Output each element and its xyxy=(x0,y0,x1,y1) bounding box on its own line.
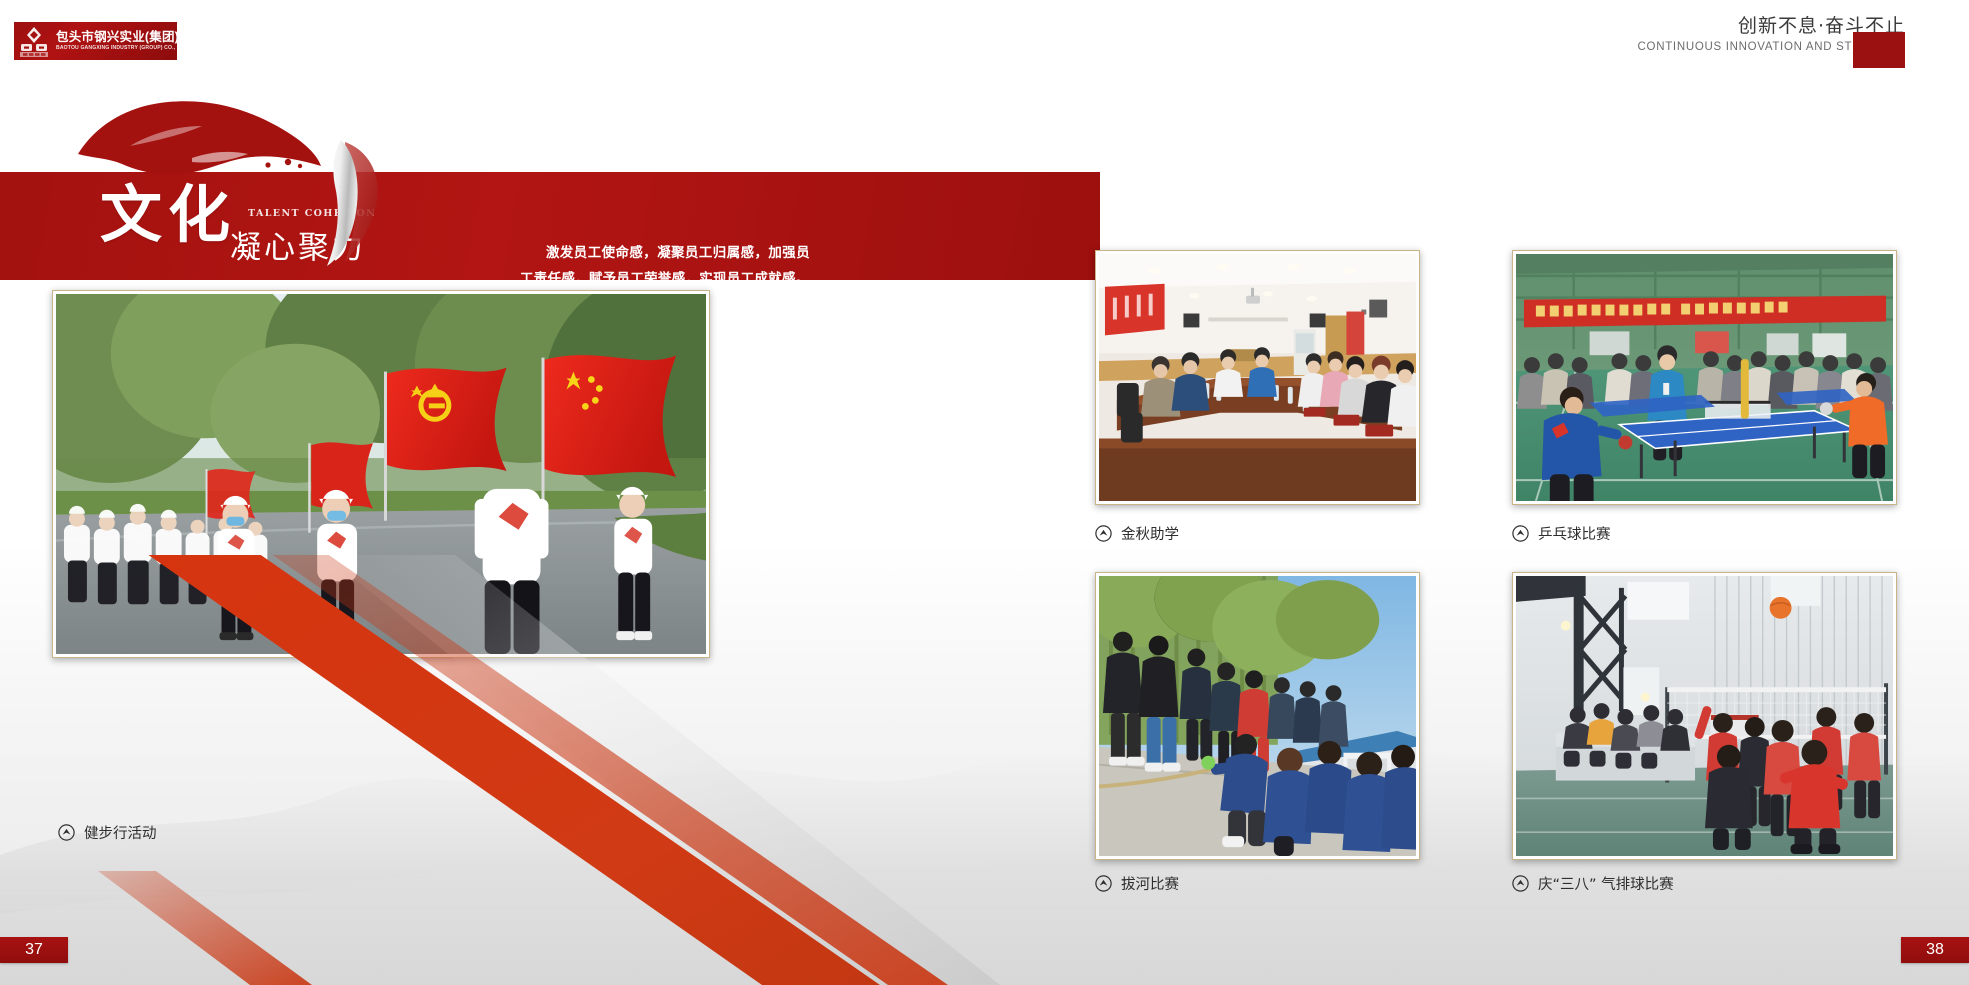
caption-text: 庆“三八” 气排球比赛 xyxy=(1538,873,1674,894)
page-curl-decoration xyxy=(297,138,381,268)
logo-company-name-en: BAOTOU GANGXING INDUSTRY (GROUP) CO., LT… xyxy=(56,44,177,53)
photo-volleyball-match[interactable] xyxy=(1512,572,1897,860)
circled-up-arrow-icon xyxy=(58,824,75,841)
caption-text: 乒乓球比赛 xyxy=(1538,523,1611,544)
circled-up-arrow-icon xyxy=(1095,875,1112,892)
page-number-left: 37 xyxy=(0,937,68,963)
photo-table-tennis-match[interactable] xyxy=(1512,250,1897,505)
circled-up-arrow-icon xyxy=(1095,525,1112,542)
company-logo: 包头市钢兴实业(集团)有限公司 BAOTOU GANGXING INDUSTRY… xyxy=(14,22,177,60)
banner-description: 激发员工使命感，凝聚员工归属感，加强员工责任感，赋予员工荣誉感，实现员工成就感。 xyxy=(520,240,810,292)
photo-walking-event[interactable] xyxy=(52,290,710,658)
gangxing-diamond-logo-icon xyxy=(14,22,54,60)
caption-walking-event: 健步行活动 xyxy=(58,822,157,843)
header-accent-square xyxy=(1853,32,1905,68)
caption-table-tennis-match: 乒乓球比赛 xyxy=(1512,523,1611,544)
logo-company-name-cn: 包头市钢兴实业(集团)有限公司 xyxy=(56,30,177,44)
circled-up-arrow-icon xyxy=(1512,875,1529,892)
banner-title-cn: 文化 xyxy=(100,178,236,252)
caption-tug-of-war: 拔河比赛 xyxy=(1095,873,1179,894)
caption-text: 健步行活动 xyxy=(84,822,157,843)
page-number-right: 38 xyxy=(1901,937,1969,963)
circled-up-arrow-icon xyxy=(1512,525,1529,542)
caption-text: 金秋助学 xyxy=(1121,523,1179,544)
caption-volleyball-match: 庆“三八” 气排球比赛 xyxy=(1512,873,1674,894)
photo-tug-of-war[interactable] xyxy=(1095,572,1420,860)
caption-scholarship-meeting: 金秋助学 xyxy=(1095,523,1179,544)
header-slogan: 创新不息·奋斗不止 CONTINUOUS INNOVATION AND STRU… xyxy=(1638,14,1905,56)
brush-stroke-decoration xyxy=(72,92,322,182)
photo-scholarship-meeting[interactable] xyxy=(1095,250,1420,505)
caption-text: 拔河比赛 xyxy=(1121,873,1179,894)
brochure-spread: 包头市钢兴实业(集团)有限公司 BAOTOU GANGXING INDUSTRY… xyxy=(0,0,1969,985)
